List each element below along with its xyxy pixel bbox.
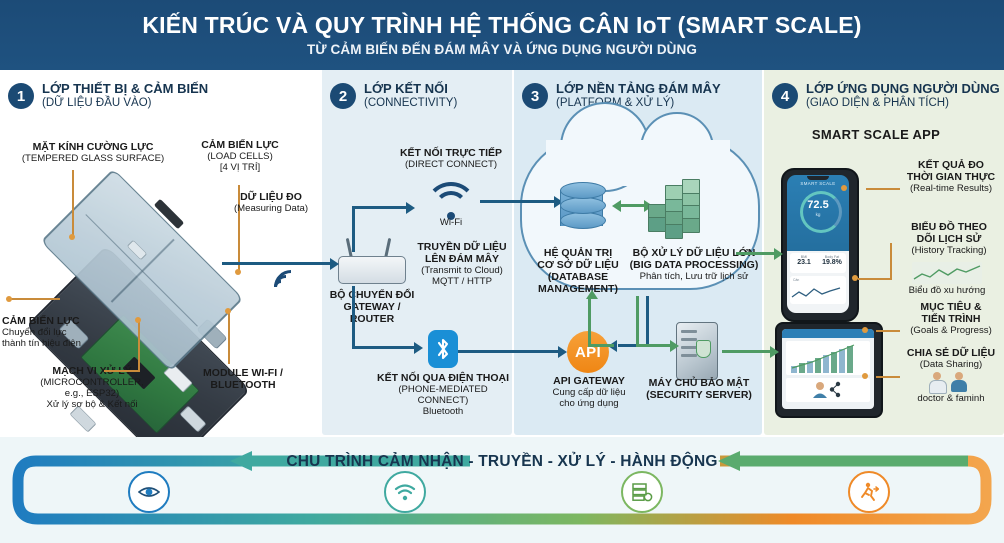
metric-card-bmi: BMI 23.1 [790, 253, 818, 273]
layer-header-app: 4 LỚP ỨNG DỤNG NGƯỜI DÙNG (GIAO DIỆN & P… [764, 70, 1004, 122]
dot-sharing [862, 373, 868, 379]
layer-number-badge-3: 3 [522, 83, 548, 109]
app-section-title: SMART SCALE APP [786, 128, 966, 143]
family-icon [950, 372, 968, 392]
leader-goals [876, 330, 900, 332]
process-cycle-bar: CHU TRÌNH CẢM NHẬN - TRUYỀN - XỬ LÝ - HÀ… [0, 437, 1004, 543]
dot-goals [862, 327, 868, 333]
arrow-security-to-tablet [722, 346, 784, 358]
database-icon [560, 182, 604, 234]
dot-mcu [135, 317, 141, 323]
layer-title-1: LỚP THIẾT BỊ & CẢM BIẾN [42, 82, 208, 97]
layer-title-4: LỚP ỨNG DỤNG NGƯỜI DÙNG [806, 82, 1000, 97]
phone-mockup[interactable]: SMART SCALE 72.5 kg BMI 23.1 Body Fat 19… [781, 168, 859, 322]
label-history-tracking: BIỂU ĐỒ THEO DÕI LỊCH SỬ (History Tracki… [896, 222, 1002, 257]
server-gear-icon [621, 471, 663, 513]
dot-glass [69, 234, 75, 240]
label-realtime-results: KẾT QUẢ ĐO THỜI GIAN THỰC (Real-time Res… [898, 160, 1004, 195]
layer-subtitle-2: (CONNECTIVITY) [364, 97, 457, 110]
label-tempered-glass: MẶT KÍNH CƯỜNG LỰC (TEMPERED GLASS SURFA… [8, 142, 178, 165]
bluetooth-icon [428, 330, 458, 368]
layer-subtitle-1: (DỮ LIỆU ĐẦU VÀO) [42, 97, 208, 110]
label-goals-progress: MỤC TIÊU & TIẾN TRÌNH (Goals & Progress) [898, 302, 1004, 337]
layer-number-badge-1: 1 [8, 83, 34, 109]
tablet-chart-card [786, 341, 870, 375]
arrow-gateway-to-wifi [352, 196, 424, 252]
weight-value: 72.5 [787, 199, 849, 211]
leader-history-v [890, 243, 892, 279]
label-wifi-module: MODULE WI-FI / BLUETOOTH [176, 368, 310, 392]
page-title: KIẾN TRÚC VÀ QUY TRÌNH HỆ THỐNG CÂN IoT … [142, 13, 861, 37]
layer-title-3: LỚP NỀN TẢNG ĐÁM MÂY [556, 82, 721, 97]
wifi-icon [384, 471, 426, 513]
sharing-people-icons [928, 372, 968, 392]
arrow-api-to-cloud [588, 292, 622, 356]
layer-header-cloud: 3 LỚP NỀN TẢNG ĐÁM MÂY (PLATFORM & XỬ LÝ… [514, 70, 762, 122]
layer-column-device: 1 LỚP THIẾT BỊ & CẢM BIẾN (DỮ LIỆU ĐẦU V… [0, 70, 320, 435]
arrow-wifi-to-cloud [480, 196, 566, 208]
cycle-title: CHU TRÌNH CẢM NHẬN - TRUYỀN - XỬ LÝ - HÀ… [0, 453, 1004, 471]
label-load-cells-left: CẢM BIẾN LỰC Chuyển đổi lực thành tín hi… [2, 316, 118, 350]
device-wifi-waves-icon [272, 266, 314, 310]
layer-title-2: LỚP KẾT NỐI [364, 82, 457, 97]
wifi-icon-direct [424, 182, 478, 220]
label-direct-connect: KẾT NỐI TRỰC TIẾP (DIRECT CONNECT) [380, 148, 522, 171]
label-wifi: Wi-Fi [414, 218, 488, 229]
tablet-appbar [782, 329, 874, 338]
phone-appbar-title: SMART SCALE [787, 181, 849, 186]
leader-mcu-v [138, 320, 140, 372]
leader-history-h [858, 278, 892, 280]
label-phone-mediated: KẾT NỐI QUA ĐIỆN THOẠI (PHONE-MEDIATED C… [372, 373, 514, 418]
running-person-icon [848, 471, 890, 513]
layer-header-connectivity: 2 LỚP KẾT NỐI (CONNECTIVITY) [322, 70, 512, 122]
phone-trend-chart: Cân [790, 276, 846, 304]
big-data-blocks-icon [648, 178, 710, 238]
dot-load-cells-left [6, 296, 12, 302]
label-load-cells-top: CẢM BIẾN LỰC (LOAD CELLS) [4 VỊ TRÍ] [188, 140, 292, 174]
leader-sharing [876, 376, 900, 378]
infographic-root: KIẾN TRÚC VÀ QUY TRÌNH HỆ THỐNG CÂN IoT … [0, 0, 1004, 543]
label-data-sharing: CHIA SẺ DỮ LIỆU (Data Sharing) [898, 348, 1004, 371]
dot-history [852, 275, 858, 281]
leader-wifi-module [228, 312, 230, 364]
page-subtitle: TỪ CẢM BIẾN ĐẾN ĐÁM MÂY VÀ ỨNG DỤNG NGƯỜ… [307, 42, 697, 57]
phone-metric-cards: BMI 23.1 Body Fat 19.8% [790, 253, 846, 273]
leader-mcu-h [104, 370, 140, 372]
arrow-cloud-to-phone [736, 248, 788, 260]
tablet-mockup[interactable] [775, 322, 883, 418]
title-banner: KIẾN TRÚC VÀ QUY TRÌNH HỆ THỐNG CÂN IoT … [0, 0, 1004, 70]
tablet-screen [782, 329, 874, 409]
label-transmit-cloud: TRUYỀN DỮ LIỆU LÊN ĐÁM MÂY (Transmit to … [410, 242, 514, 288]
dot-realtime [841, 185, 847, 191]
label-trend-chart-caption: Biểu đồ xu hướng [890, 286, 1004, 297]
layer-subtitle-4: (GIAO DIỆN & PHÂN TÍCH) [806, 97, 1000, 110]
label-sharing-caption: doctor & faminh [896, 394, 1004, 405]
layer-number-badge-4: 4 [772, 83, 798, 109]
tablet-sharing-card [786, 378, 870, 402]
metric-card-bodyfat: Body Fat 19.8% [818, 253, 846, 273]
label-database-management: HỆ QUẢN TRỊ CƠ SỞ DỮ LIỆU (DATABASE MANA… [526, 248, 630, 296]
eye-icon [128, 471, 170, 513]
arrow-device-to-gateway [222, 258, 342, 270]
label-api-gateway: API GATEWAY Cung cấp dữ liệu cho ứng dụn… [534, 376, 644, 410]
label-microcontroller: MẠCH VI XỬ LÝ (MICROCONTROLLER, e.g., ES… [18, 366, 166, 411]
label-measuring-data: DỮ LIỆU ĐO (Measuring Data) [222, 192, 320, 215]
history-sparkline [912, 262, 982, 284]
label-security-server: MÁY CHỦ BẢO MẬT (SECURITY SERVER) [644, 378, 754, 402]
leader-load-cells-left [8, 298, 60, 300]
phone-hero-area: SMART SCALE 72.5 kg [787, 175, 849, 251]
leader-realtime [866, 188, 900, 190]
arrow-bluetooth-to-api [458, 346, 570, 358]
leader-glass [72, 170, 74, 236]
weight-unit: kg [787, 212, 849, 217]
layer-header-device: 1 LỚP THIẾT BỊ & CẢM BIẾN (DỮ LIỆU ĐẦU V… [0, 70, 320, 122]
arrow-cloud-to-security [636, 296, 688, 358]
phone-notch [807, 176, 829, 180]
arrow-gateway-to-bluetooth [352, 286, 432, 358]
doctor-icon [928, 372, 946, 392]
dot-wifi-module [225, 308, 231, 314]
layer-number-badge-2: 2 [330, 83, 356, 109]
phone-screen: SMART SCALE 72.5 kg BMI 23.1 Body Fat 19… [787, 175, 849, 313]
